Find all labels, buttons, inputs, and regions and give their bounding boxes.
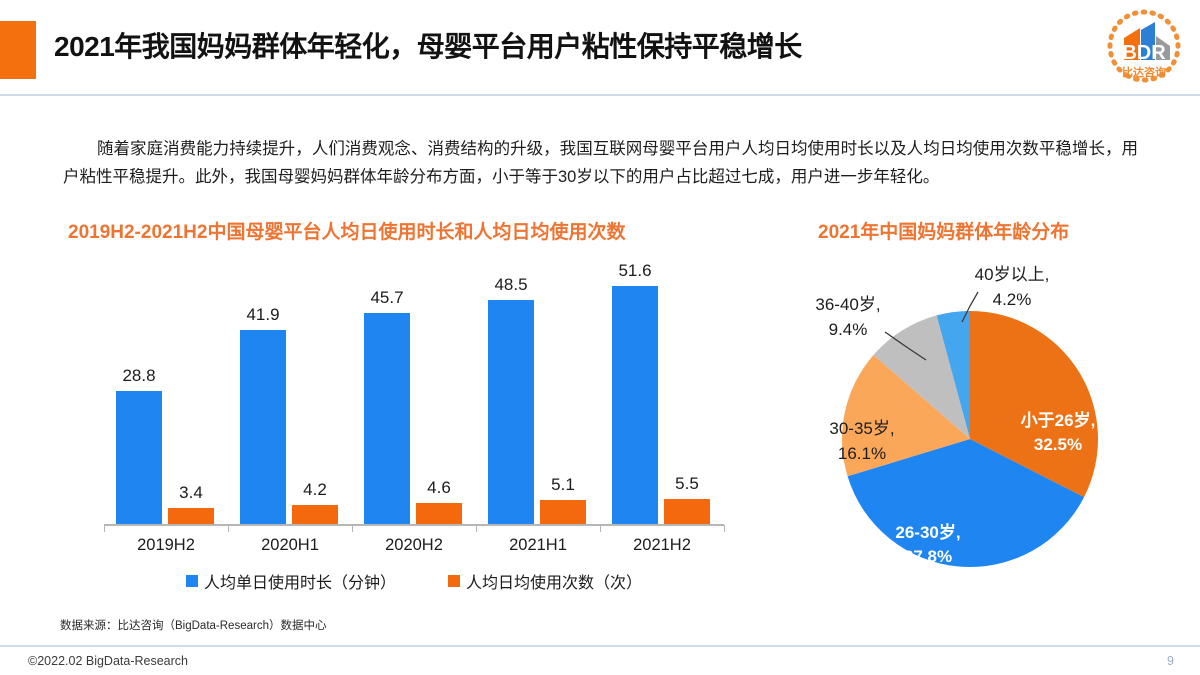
logo-mark-text: BDR <box>1122 42 1166 64</box>
logo-sub-text: 比达咨询 <box>1122 65 1166 79</box>
x-axis-line <box>104 524 724 526</box>
x-axis-tick <box>600 525 601 532</box>
intro-paragraph: 随着家庭消费能力持续提升，人们消费观念、消费结构的升级，我国互联网母婴平台用户人… <box>63 135 1138 191</box>
x-axis-category-label: 2020H2 <box>352 536 476 555</box>
pie-chart-title: 2021年中国妈妈群体年龄分布 <box>818 217 1069 244</box>
bar-value-label: 4.6 <box>399 478 479 498</box>
legend-label: 人均日均使用次数（次） <box>466 569 642 593</box>
pie-slice-label: 37.8% <box>904 547 952 566</box>
legend-item[interactable]: 人均日均使用次数（次） <box>448 569 642 593</box>
x-axis-tick <box>228 525 229 532</box>
bar-value-label: 28.8 <box>99 366 179 386</box>
legend-swatch-icon <box>186 575 198 587</box>
bar-group: 48.55.1 <box>476 256 600 524</box>
bar-blue <box>116 391 162 524</box>
x-axis-tick <box>724 525 725 532</box>
page-header: 2021年我国妈妈群体年轻化，母婴平台用户粘性保持平稳增长 <box>0 0 1200 96</box>
footer-divider <box>0 645 1200 647</box>
bar-orange <box>416 503 462 524</box>
bar-group: 28.83.4 <box>104 256 228 524</box>
x-axis-tick <box>104 525 105 532</box>
page-title: 2021年我国妈妈群体年轻化，母婴平台用户粘性保持平稳增长 <box>54 25 802 65</box>
x-axis-category-label: 2019H2 <box>104 536 228 555</box>
bar-value-label: 4.2 <box>275 480 355 500</box>
legend-item[interactable]: 人均单日使用时长（分钟） <box>186 569 396 593</box>
bar-orange <box>664 499 710 524</box>
bar-group: 45.74.6 <box>352 256 476 524</box>
pie-chart: 小于26岁,32.5%26-30岁,37.8%30-35岁,16.1%36-40… <box>800 256 1190 601</box>
header-accent-block <box>0 21 36 79</box>
bar-group: 51.65.5 <box>600 256 724 524</box>
bar-chart-legend: 人均单日使用时长（分钟）人均日均使用次数（次） <box>104 569 724 593</box>
header-divider <box>0 94 1200 96</box>
legend-swatch-icon <box>448 575 460 587</box>
page-number: 9 <box>1167 654 1174 668</box>
logo-graphic: BDR 比达咨询 <box>1100 6 1188 90</box>
bar-value-label: 3.4 <box>151 483 231 503</box>
legend-label: 人均单日使用时长（分钟） <box>204 569 396 593</box>
pie-slice-label: 32.5% <box>1034 435 1082 454</box>
pie-slice-label: 40岁以上, <box>975 265 1050 284</box>
pie-slice-label: 4.2% <box>993 290 1032 309</box>
x-axis-category-label: 2021H1 <box>476 536 600 555</box>
bar-value-label: 41.9 <box>223 305 303 325</box>
source-note: 数据来源：比达咨询（BigData-Research）数据中心 <box>60 617 326 633</box>
x-axis-category-labels: 2019H22020H12020H22021H12021H2 <box>104 536 724 555</box>
bar-value-label: 48.5 <box>471 275 551 295</box>
x-axis-tick <box>476 525 477 532</box>
x-axis-tick <box>352 525 353 532</box>
bar-chart-title: 2019H2-2021H2中国母婴平台人均日使用时长和人均日均使用次数 <box>68 217 625 244</box>
bar-value-label: 5.1 <box>523 475 603 495</box>
bar-group: 41.94.2 <box>228 256 352 524</box>
bar-value-label: 5.5 <box>647 474 727 494</box>
pie-slice-label: 36-40岁, <box>815 295 880 314</box>
bar-orange <box>292 505 338 524</box>
bar-value-label: 45.7 <box>347 288 427 308</box>
pie-slice-label: 16.1% <box>838 444 886 463</box>
bar-plot-area: 28.83.441.94.245.74.648.55.151.65.5 <box>104 256 724 524</box>
pie-slice-label: 30-35岁, <box>829 419 894 438</box>
x-axis-category-label: 2020H1 <box>228 536 352 555</box>
bar-orange <box>540 500 586 524</box>
pie-slice-label: 小于26岁, <box>1021 410 1096 430</box>
bar-orange <box>168 508 214 524</box>
pie-graphic: 小于26岁,32.5%26-30岁,37.8%30-35岁,16.1%36-40… <box>800 256 1190 601</box>
bar-value-label: 51.6 <box>595 261 675 281</box>
x-axis-category-label: 2021H2 <box>600 536 724 555</box>
copyright-text: ©2022.02 BigData-Research <box>28 654 188 668</box>
bar-chart: 28.83.441.94.245.74.648.55.151.65.5 2019… <box>68 256 748 601</box>
bdr-logo: BDR 比达咨询 <box>1100 6 1188 90</box>
pie-slice-label: 9.4% <box>829 320 868 339</box>
pie-slice-label: 26-30岁, <box>895 522 960 542</box>
